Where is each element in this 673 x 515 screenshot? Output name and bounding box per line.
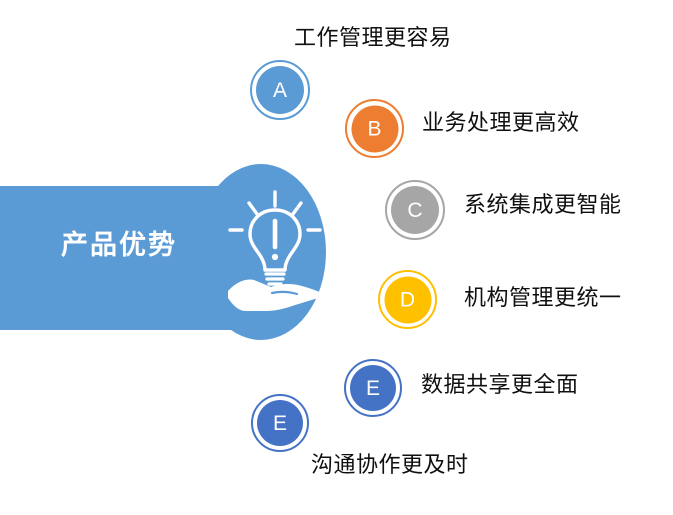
node-d-letter: D — [400, 289, 415, 310]
node-d-label: 机构管理更统一 — [464, 285, 622, 310]
node-e-letter: E — [366, 378, 380, 399]
node-a-label: 工作管理更容易 — [294, 25, 452, 50]
node-f-disc: E — [257, 400, 303, 446]
node-e-disc: E — [350, 365, 396, 411]
node-e-label: 数据共享更全面 — [421, 372, 579, 397]
product-advantage-banner: 产品优势 — [0, 160, 340, 345]
lightbulb-in-hand-icon — [226, 190, 324, 316]
banner-title: 产品优势 — [24, 232, 214, 259]
node-b-label: 业务处理更高效 — [422, 110, 580, 135]
node-a[interactable]: A — [250, 60, 310, 120]
node-f-letter: E — [273, 413, 287, 434]
node-b-letter: B — [367, 118, 381, 139]
node-b-disc: B — [351, 105, 398, 152]
node-b[interactable]: B — [345, 99, 404, 158]
node-f[interactable]: E — [251, 394, 309, 452]
node-e[interactable]: E — [344, 359, 402, 417]
diagram-canvas: 产品优势 — [0, 0, 673, 515]
node-d[interactable]: D — [378, 270, 437, 329]
node-c-label: 系统集成更智能 — [464, 192, 622, 217]
node-c-disc: C — [391, 186, 439, 234]
node-a-letter: A — [273, 80, 287, 101]
node-d-disc: D — [384, 276, 431, 323]
node-a-disc: A — [256, 66, 304, 114]
node-f-label: 沟通协作更及时 — [311, 452, 469, 477]
node-c-letter: C — [407, 200, 422, 221]
node-c[interactable]: C — [385, 180, 445, 240]
